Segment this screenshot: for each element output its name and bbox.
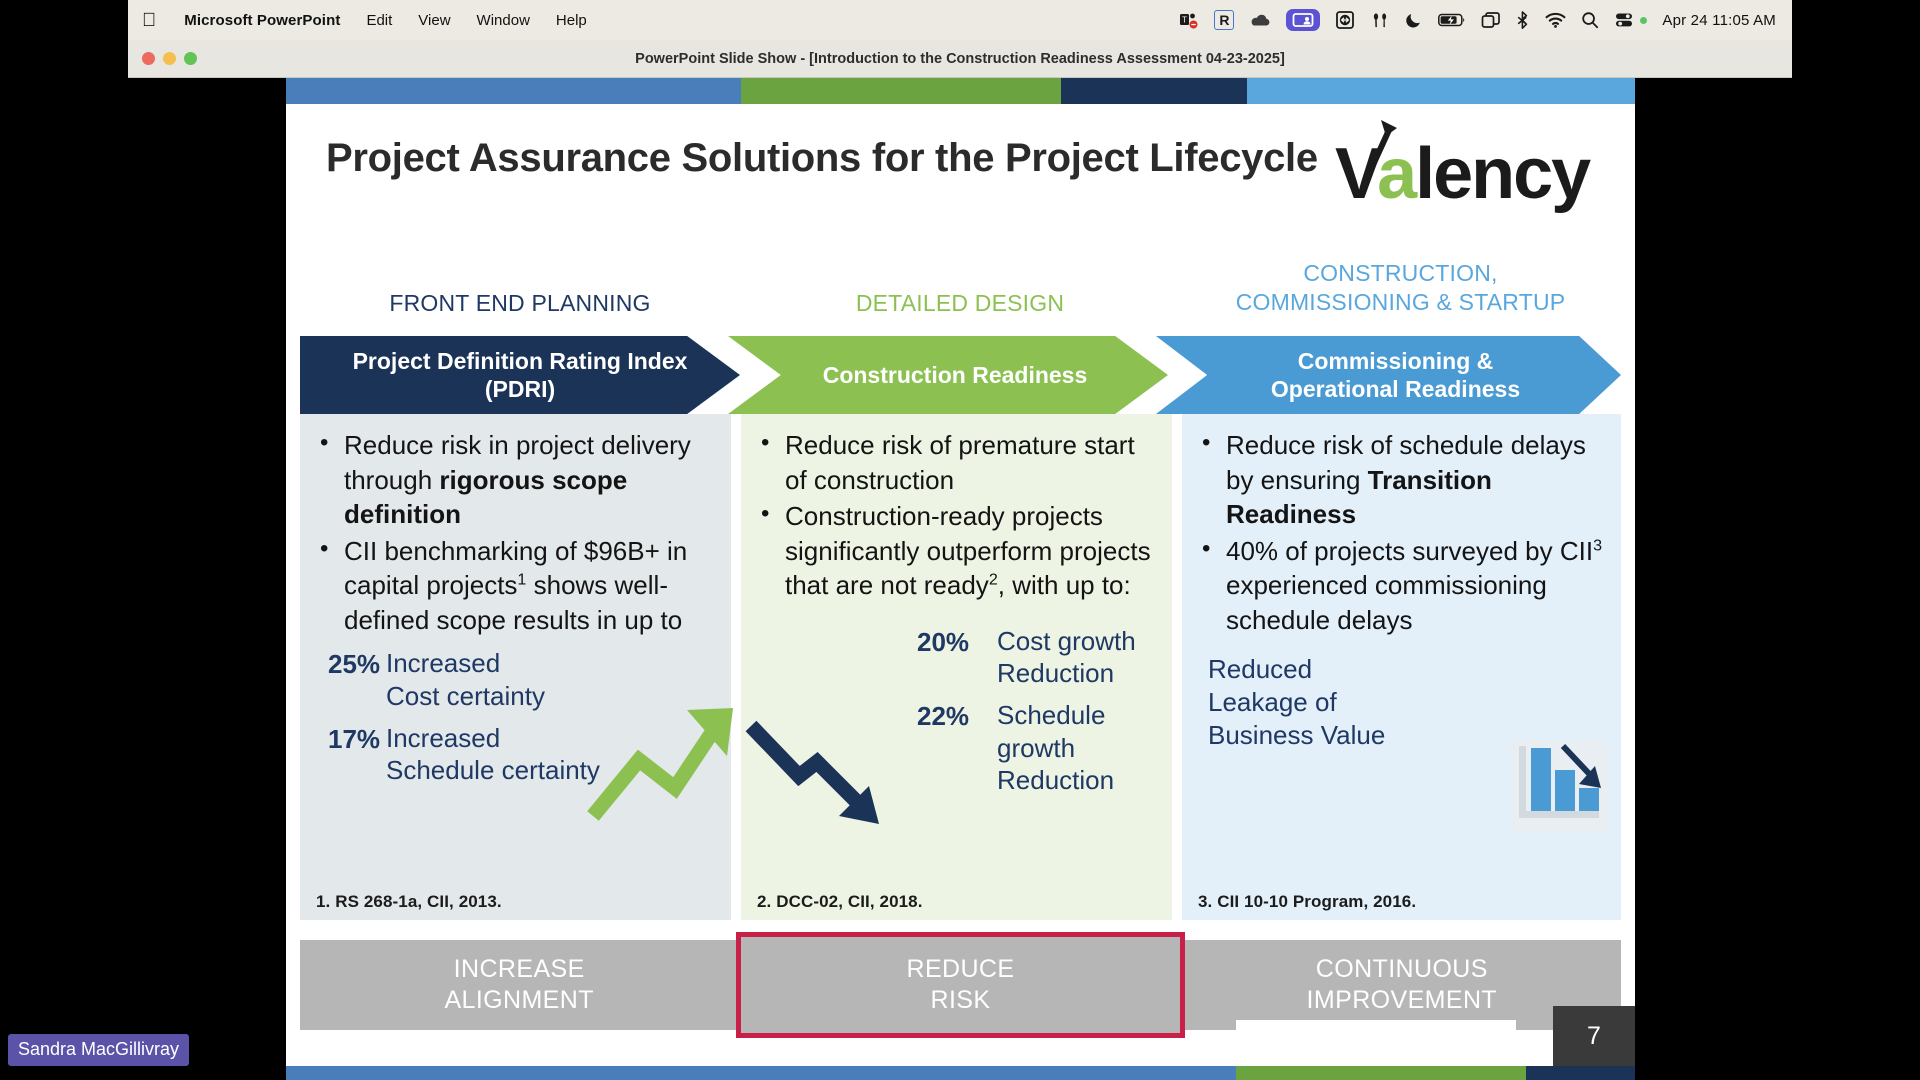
footnote-3: 3. CII 10-10 Program, 2016. [1198, 892, 1416, 912]
stat-label: IncreasedSchedule certainty [386, 722, 600, 786]
pdri-stats: 25% IncreasedCost certainty 17% Increase… [314, 647, 717, 786]
construction-readiness-bullet-list: Reduce risk of premature start of constr… [755, 428, 1158, 603]
spotlight-search-icon[interactable] [1581, 8, 1599, 32]
apple-logo-icon[interactable]:  [142, 11, 156, 30]
bottom-strip-navy [1526, 1066, 1635, 1080]
stat-label: IncreasedCost certainty [386, 647, 545, 711]
window-title: PowerPoint Slide Show - [Introduction to… [128, 51, 1792, 67]
chevron-pdri[interactable]: Project Definition Rating Index(PDRI) [300, 336, 740, 414]
slideshow-stage[interactable]: Project Assurance Solutions for the Proj… [0, 78, 1920, 1080]
strip-segment-navy [1061, 78, 1247, 104]
construction-readiness-column: Reduce risk of premature start of constr… [741, 414, 1172, 920]
valency-logo: Valency [1335, 118, 1595, 210]
phase-labels-row: FRONT END PLANNING DETAILED DESIGN CONST… [300, 253, 1621, 333]
footnote-1: 1. RS 268-1a, CII, 2013. [316, 892, 502, 912]
stat-row: 25% IncreasedCost certainty [314, 647, 717, 711]
strip-segment-green [741, 78, 1061, 104]
logo-a: a [1377, 134, 1415, 214]
slide-number-badge: 7 [1553, 1006, 1635, 1066]
svg-text:T: T [1182, 16, 1187, 25]
list-item: 40% of projects surveyed by CII3 experie… [1196, 534, 1607, 638]
teams-icon[interactable]: T [1179, 8, 1199, 32]
chevron-header-row: Project Definition Rating Index(PDRI) Co… [300, 336, 1621, 414]
menu-item-help[interactable]: Help [556, 12, 587, 29]
pdri-column: Reduce risk in project delivery through … [300, 414, 731, 920]
control-center-icon[interactable] [1614, 8, 1634, 32]
strip-segment-blue [286, 78, 741, 104]
airpods-icon[interactable] [1370, 8, 1390, 32]
slide-bottom-white-block [1236, 1020, 1516, 1066]
stat-label: Cost growthReduction [997, 625, 1136, 689]
list-item: Reduce risk in project delivery through … [314, 428, 717, 532]
slide-top-color-strip [286, 78, 1635, 104]
construction-readiness-stats: 20% Cost growthReduction 22% Schedulegro… [755, 625, 1158, 796]
chevron-construction-readiness[interactable]: Construction Readiness [728, 336, 1168, 414]
stat-percent: 25% [314, 647, 386, 680]
stat-percent: 20% [917, 625, 997, 658]
phase-label-front-end-planning: FRONT END PLANNING [300, 289, 740, 318]
battery-charging-icon[interactable] [1438, 8, 1466, 32]
outcome-increase-alignment[interactable]: INCREASEALIGNMENT [300, 940, 738, 1030]
presenter-name-badge[interactable]: Sandra MacGillivray [8, 1034, 189, 1066]
macos-menu-bar:  Microsoft PowerPoint Edit View Window … [128, 0, 1792, 40]
footnote-2: 2. DCC-02, CII, 2018. [757, 892, 923, 912]
outcome-reduce-risk[interactable]: REDUCERISK [736, 932, 1184, 1038]
wifi-icon[interactable] [1545, 8, 1566, 32]
logo-rest: lency [1415, 134, 1589, 214]
content-columns: Reduce risk in project delivery through … [300, 414, 1621, 920]
valency-wordmark: Valency [1335, 138, 1589, 210]
slide-canvas[interactable]: Project Assurance Solutions for the Proj… [286, 78, 1635, 1080]
list-item: Reduce risk of premature start of constr… [755, 428, 1158, 497]
stat-row: 20% Cost growthReduction [917, 625, 1158, 689]
slide-title: Project Assurance Solutions for the Proj… [326, 136, 1326, 180]
window-title-bar: PowerPoint Slide Show - [Introduction to… [128, 40, 1792, 78]
stat-percent: 17% [314, 722, 386, 755]
menu-item-view[interactable]: View [418, 12, 450, 29]
commissioning-column: Reduce risk of schedule delays by ensuri… [1182, 414, 1621, 920]
bottom-strip-blue [286, 1066, 1236, 1080]
list-item: Construction-ready projects significantl… [755, 499, 1158, 603]
pdri-bullet-list: Reduce risk in project delivery through … [314, 428, 717, 637]
list-item: CII benchmarking of $96B+ in capital pro… [314, 534, 717, 638]
bluetooth-icon[interactable] [1516, 8, 1530, 32]
slide-bottom-color-strip [286, 1066, 1635, 1080]
logo-v: V [1335, 134, 1377, 214]
screen:  Microsoft PowerPoint Edit View Window … [0, 0, 1920, 1080]
menu-item-window[interactable]: Window [477, 12, 530, 29]
declining-bar-chart-icon [1511, 740, 1607, 832]
outcome-bar: INCREASEALIGNMENT REDUCERISK CONTINUOUSI… [300, 940, 1621, 1030]
list-item: Reduce risk of schedule delays by ensuri… [1196, 428, 1607, 532]
menu-app-name[interactable]: Microsoft PowerPoint [184, 12, 340, 29]
reduced-leakage-callout: Reduced Leakage of Business Value [1196, 653, 1411, 751]
recording-indicator-dot [1640, 17, 1647, 24]
stat-percent: 22% [917, 699, 997, 732]
bottom-strip-green [1236, 1066, 1526, 1080]
chevron-commissioning-operational-readiness[interactable]: Commissioning &Operational Readiness [1156, 336, 1621, 414]
commissioning-bullet-list: Reduce risk of schedule delays by ensuri… [1196, 428, 1607, 637]
phase-label-detailed-design: DETAILED DESIGN [740, 289, 1180, 318]
r-badge-icon[interactable]: R [1214, 8, 1234, 32]
stage-manager-icon[interactable] [1481, 8, 1501, 32]
menubar-clock[interactable]: Apr 24 11:05 AM [1662, 12, 1776, 29]
menu-item-edit[interactable]: Edit [366, 12, 392, 29]
stat-row: 17% IncreasedSchedule certainty [314, 722, 717, 786]
screen-share-icon[interactable] [1286, 9, 1320, 31]
phase-label-construction-commissioning: CONSTRUCTION,COMMISSIONING & STARTUP [1180, 259, 1621, 317]
stat-label: SchedulegrowthReduction [997, 699, 1114, 796]
strip-segment-lightblue [1247, 78, 1635, 104]
do-not-disturb-moon-icon[interactable] [1405, 8, 1423, 32]
onedrive-cloud-icon[interactable] [1249, 8, 1271, 32]
stat-row: 22% SchedulegrowthReduction [917, 699, 1158, 796]
display-link-icon[interactable] [1335, 8, 1355, 32]
